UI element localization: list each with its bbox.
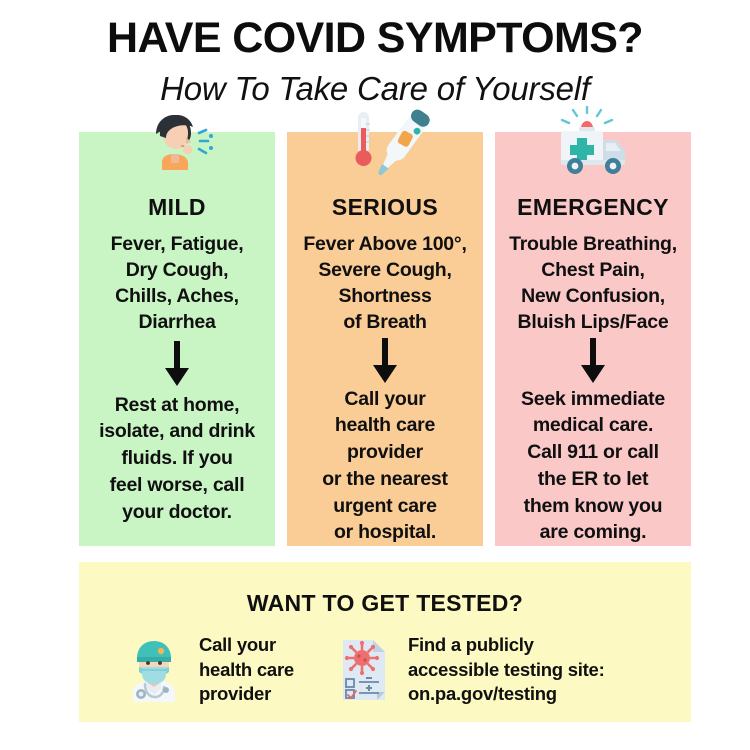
tested-option-find-site: Find a publicly accessible testing site:…: [332, 633, 605, 707]
get-tested-options: Call your health care provider: [79, 617, 691, 707]
column-action-lead: Seek immediate medical care.: [521, 388, 665, 437]
column-action: Rest at home, isolate, and drink fluids.…: [99, 392, 255, 526]
header: HAVE COVID SYMPTOMS? How To Take Care of…: [0, 0, 750, 107]
severity-columns: MILD Fever, Fatigue, Dry Cough, Chills, …: [79, 132, 691, 546]
doctor-icon: [123, 637, 185, 703]
page-subtitle: How To Take Care of Yourself: [0, 61, 750, 107]
down-arrow-icon: [372, 336, 398, 386]
get-tested-panel: WANT TO GET TESTED?: [79, 562, 691, 722]
tested-option-call-provider: Call your health care provider: [123, 633, 294, 707]
column-symptoms: Trouble Breathing, Chest Pain, New Confu…: [509, 221, 677, 336]
column-heading: EMERGENCY: [517, 132, 669, 221]
down-arrow-icon: [580, 336, 606, 386]
tested-option-text: Find a publicly accessible testing site:…: [408, 633, 605, 707]
tested-option-text: Call your health care provider: [199, 633, 294, 707]
column-action-text: Rest at home, isolate, and drink fluids.…: [99, 394, 255, 523]
test-report-icon: [332, 637, 394, 703]
column-emergency: EMERGENCY Trouble Breathing, Chest Pain,…: [495, 132, 691, 546]
column-action-text: Call your health care provider or the ne…: [322, 388, 447, 544]
column-symptoms: Fever Above 100°, Severe Cough, Shortnes…: [303, 221, 466, 336]
column-mild: MILD Fever, Fatigue, Dry Cough, Chills, …: [79, 132, 275, 546]
get-tested-title: WANT TO GET TESTED?: [79, 562, 691, 617]
column-symptoms: Fever, Fatigue, Dry Cough, Chills, Aches…: [111, 221, 244, 336]
column-action: Call your health care provider or the ne…: [322, 386, 447, 546]
column-action-text: Call 911 or call the ER to let them know…: [524, 441, 663, 543]
column-heading: SERIOUS: [332, 132, 438, 221]
column-action: Seek immediate medical care.Call 911 or …: [521, 386, 665, 546]
page-title: HAVE COVID SYMPTOMS?: [0, 0, 750, 61]
down-arrow-icon: [164, 336, 190, 392]
column-serious: SERIOUS Fever Above 100°, Severe Cough, …: [287, 132, 483, 546]
column-heading: MILD: [148, 132, 206, 221]
